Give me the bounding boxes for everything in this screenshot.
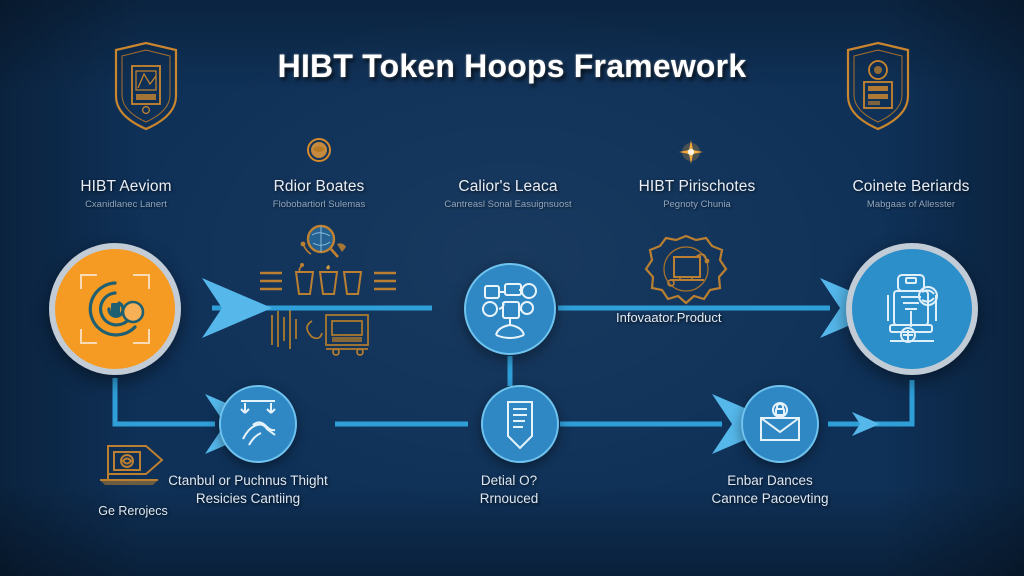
scanner-target-icon [73, 267, 157, 351]
column-header-4: HIBT Pirischotes Pegnoty Chunia [597, 178, 797, 210]
column-header-1: HIBT Aeviom Cxanidlanec Lanert [26, 178, 226, 210]
caption-mail-line2: Cannce Pacoevting [650, 490, 890, 508]
node-document[interactable] [481, 385, 559, 463]
column-5-subtitle: Mabgaas of Allesster [811, 199, 1011, 210]
caption-handshake-line1: Ctanbul or Puchnus Thight [128, 472, 368, 490]
arrow-mail-to-output [828, 380, 912, 424]
column-3-title: Calior's Leaca [408, 178, 608, 196]
node-output[interactable] [846, 243, 978, 375]
edge-label-product: Infovaator.Product [616, 310, 722, 325]
caption-document: Detial O? Rrnouced [389, 472, 629, 508]
page-title: HIBT Token Hoops Framework [0, 48, 1024, 85]
column-4-title: HIBT Pirischotes [597, 178, 797, 196]
orange-star-icon [677, 138, 705, 166]
node-source[interactable] [49, 243, 181, 375]
column-4-subtitle: Pegnoty Chunia [597, 199, 797, 210]
node-handshake[interactable] [219, 385, 297, 463]
document-scroll-icon [492, 396, 548, 452]
orange-seal-icon [305, 136, 333, 164]
secure-envelope-icon [751, 396, 809, 452]
caption-document-line2: Rrnouced [389, 490, 629, 508]
network-cluster-icon [477, 276, 543, 342]
column-1-title: HIBT Aeviom [26, 178, 226, 196]
column-header-5: Coinete Beriards Mabgaas of Allesster [811, 178, 1011, 210]
caption-mail: Enbar Dances Cannce Pacoevting [650, 472, 890, 508]
column-5-title: Coinete Beriards [811, 178, 1011, 196]
column-header-3: Calior's Leaca Cantreasl Sonal Easuignsu… [408, 178, 608, 210]
footer-item-label: Ge Rerojecs [33, 503, 233, 520]
column-2-title: Rdior Boates [219, 178, 419, 196]
node-network[interactable] [464, 263, 556, 355]
caption-mail-line1: Enbar Dances [650, 472, 890, 490]
node-mail[interactable] [741, 385, 819, 463]
caption-document-line1: Detial O? [389, 472, 629, 490]
handshake-download-icon [229, 395, 287, 453]
column-1-subtitle: Cxanidlanec Lanert [26, 199, 226, 210]
machine-tower-icon [870, 267, 954, 351]
diagram-canvas: HIBT Token Hoops Framework [0, 0, 1024, 576]
column-header-2: Rdior Boates Flobobartiorl Sulemas [219, 178, 419, 210]
column-2-subtitle: Flobobartiorl Sulemas [219, 199, 419, 210]
column-3-subtitle: Cantreasl Sonal Easuignsuost [408, 199, 608, 210]
arrow-source-to-handshake [115, 378, 215, 424]
